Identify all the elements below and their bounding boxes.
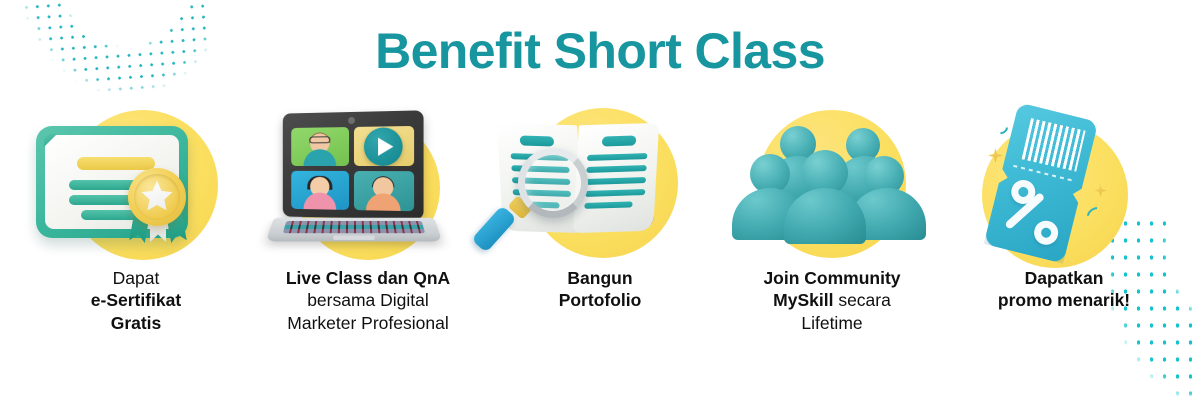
benefit-item-portfolio: Bangun Portofolio: [484, 104, 716, 312]
video-tile-play: [353, 126, 414, 166]
keyboard: [283, 221, 425, 233]
caption-brand: MySkill: [773, 290, 833, 310]
benefit-item-certificate: Dapat e-Sertifikat Gratis: [20, 104, 252, 334]
magnifier-icon: [488, 148, 592, 246]
caption-line: Marketer Profesional: [252, 312, 484, 334]
benefit-caption: Dapatkan promo menarik!: [948, 267, 1180, 312]
caption-line: Bangun: [484, 267, 716, 289]
benefit-item-promo: Dapatkan promo menarik!: [948, 104, 1180, 312]
medal-badge: [128, 168, 186, 226]
caption-line: bersama Digital: [252, 289, 484, 311]
barcode-icon: [1022, 118, 1086, 172]
percent-icon: [1001, 177, 1069, 247]
video-tile-participant: [291, 171, 348, 210]
benefit-item-community: Join Community MySkill secara Lifetime: [716, 104, 948, 334]
community-people-icon: [716, 104, 948, 259]
caption-line: Dapat: [20, 267, 252, 289]
benefit-caption: Join Community MySkill secara Lifetime: [716, 267, 948, 334]
caption-line: Join Community: [716, 267, 948, 289]
magnifier-lens: [518, 148, 588, 218]
caption-line: Portofolio: [484, 289, 716, 311]
caption-text: secara: [833, 290, 890, 310]
video-tile-participant: [291, 127, 348, 166]
laptop-base: [266, 218, 443, 242]
benefits-row: Dapat e-Sertifikat Gratis: [0, 104, 1200, 364]
star-icon: [141, 180, 173, 212]
benefit-item-live-class: Live Class dan QnA bersama Digital Marke…: [252, 104, 484, 334]
squiggle-icon: [991, 117, 1011, 137]
play-icon: [364, 127, 403, 166]
caption-line: Lifetime: [716, 312, 948, 334]
book-magnifier-icon: [484, 104, 716, 259]
video-tile-participant: [353, 171, 414, 211]
caption-line: Gratis: [20, 312, 252, 334]
trackpad: [333, 235, 375, 239]
certificate-medal-icon: [20, 104, 252, 259]
caption-line: Live Class dan QnA: [252, 267, 484, 289]
benefit-banner: Benefit Short Class: [0, 0, 1200, 400]
discount-voucher-icon: [948, 104, 1180, 259]
glasses-icon: [309, 137, 330, 144]
laptop-screen: [283, 110, 424, 219]
benefit-caption: Dapat e-Sertifikat Gratis: [20, 267, 252, 334]
people-group: [740, 126, 924, 244]
caption-line: promo menarik!: [948, 289, 1180, 311]
caption-line: e-Sertifikat: [20, 289, 252, 311]
page-title: Benefit Short Class: [0, 22, 1200, 80]
laptop: [270, 112, 438, 252]
laptop-video-call-icon: [252, 104, 484, 259]
webcam-icon: [348, 117, 355, 124]
caption-line: Dapatkan: [948, 267, 1180, 289]
caption-line: MySkill secara: [716, 289, 948, 311]
benefit-caption: Bangun Portofolio: [484, 267, 716, 312]
certificate-title-bar: [77, 157, 155, 170]
benefit-caption: Live Class dan QnA bersama Digital Marke…: [252, 267, 484, 334]
